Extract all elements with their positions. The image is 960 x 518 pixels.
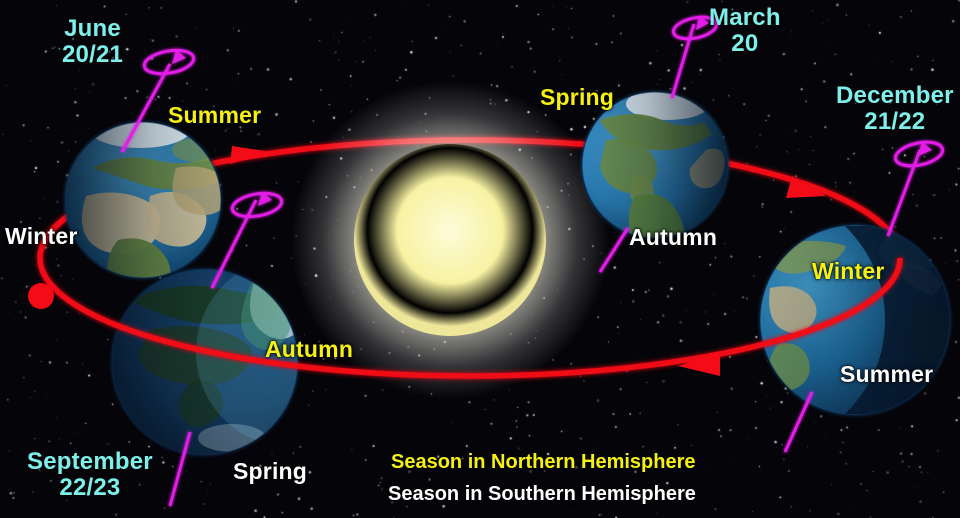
orbit-scene <box>0 0 960 518</box>
orbit-arrow-left <box>28 283 54 309</box>
legend-southern-hemisphere: Season in Southern Hemisphere <box>388 483 696 506</box>
seasons-diagram: June 20/21 September 22/23 March 20 Dece… <box>0 0 960 518</box>
sun <box>290 80 610 400</box>
earth-december-solstice <box>758 222 960 420</box>
legend-northern-hemisphere: Season in Northern Hemisphere <box>391 451 696 474</box>
